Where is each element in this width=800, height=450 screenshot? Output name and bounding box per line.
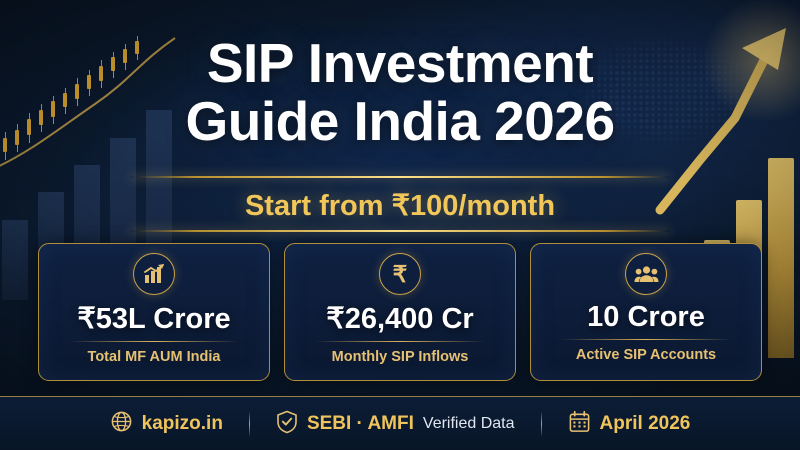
footer-regulators: SEBI · AMFI Verified Data	[250, 410, 541, 439]
rupee-circle-icon: ₹	[379, 253, 421, 295]
divider-below-subtitle	[130, 230, 670, 232]
stat-card-aum[interactable]: ₹53L Crore Total MF AUM India	[38, 243, 270, 381]
page-title: SIP Investment Guide India 2026	[0, 34, 800, 150]
footer-website[interactable]: kapizo.in	[84, 410, 249, 438]
globe-icon	[110, 410, 133, 438]
card-divider	[315, 341, 485, 342]
subtitle: Start from ₹100/month	[0, 188, 800, 223]
shield-check-icon	[276, 410, 298, 439]
calendar-icon	[568, 410, 591, 438]
sip-infographic-poster: SIP Investment Guide India 2026 Start fr…	[0, 0, 800, 450]
stat-cards: ₹53L Crore Total MF AUM India ₹ ₹26,400 …	[38, 243, 762, 381]
card-divider	[69, 341, 239, 342]
website-label: kapizo.in	[142, 413, 223, 435]
stat-card-inflows[interactable]: ₹ ₹26,400 Cr Monthly SIP Inflows	[284, 243, 516, 381]
stat-card-accounts[interactable]: 10 Crore Active SIP Accounts	[530, 243, 762, 381]
stat-value: 10 Crore	[587, 301, 705, 334]
stat-value: ₹26,400 Cr	[326, 301, 473, 336]
stat-label: Monthly SIP Inflows	[332, 349, 469, 365]
title-line-2: Guide India 2026	[0, 92, 800, 150]
divider-above-subtitle	[130, 176, 670, 178]
title-line-1: SIP Investment	[0, 34, 800, 92]
footer-date: April 2026	[542, 410, 717, 438]
footer-bar: kapizo.in SEBI · AMFI Verified Data	[0, 396, 800, 450]
stat-label: Active SIP Accounts	[576, 347, 716, 363]
people-group-icon	[625, 253, 667, 295]
bar-chart-growth-icon	[133, 253, 175, 295]
date-label: April 2026	[600, 413, 691, 435]
verified-label: Verified Data	[423, 415, 515, 433]
stat-value: ₹53L Crore	[77, 301, 230, 336]
stat-label: Total MF AUM India	[88, 349, 221, 365]
card-divider	[561, 339, 731, 340]
regulators-label: SEBI · AMFI	[307, 413, 414, 435]
